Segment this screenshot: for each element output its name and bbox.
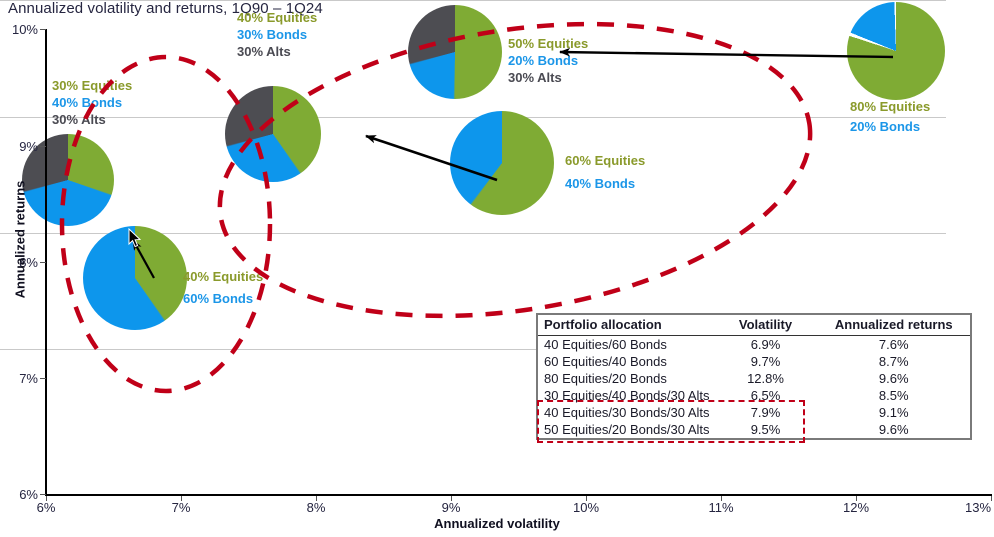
- label-alts: 30% Alts: [508, 69, 588, 86]
- cell-allocation: 30 Equities/40 Bonds/30 Alts: [538, 387, 714, 404]
- x-tick-label-7pct: 7%: [172, 500, 191, 515]
- label-bonds: 40% Bonds: [565, 175, 645, 192]
- cell-allocation: 40 Equities/30 Bonds/30 Alts: [538, 404, 714, 421]
- cell-returns: 9.6%: [816, 370, 971, 387]
- y-tick-label-7pct: 7%: [0, 371, 38, 386]
- cell-returns: 9.1%: [816, 404, 971, 421]
- cell-allocation: 50 Equities/20 Bonds/30 Alts: [538, 421, 714, 438]
- table-row[interactable]: 40 Equities/60 Bonds 6.9% 7.6%: [538, 336, 970, 354]
- y-tick-label-10pct: 10%: [0, 22, 38, 37]
- portfolio-allocation-table: Portfolio allocation Volatility Annualiz…: [536, 313, 972, 440]
- x-tick-label-11pct: 11%: [708, 500, 733, 515]
- cell-returns: 9.6%: [816, 421, 971, 438]
- label-equities: 40% Equities: [183, 268, 263, 285]
- y-tick-9: [40, 146, 46, 147]
- pie-label-40eq-60bd: 40% Equities 60% Bonds: [183, 268, 263, 307]
- x-axis-line: [45, 494, 992, 496]
- label-equities: 60% Equities: [565, 152, 645, 169]
- cell-volatility: 7.9%: [714, 404, 816, 421]
- table-row[interactable]: 50 Equities/20 Bonds/30 Alts 9.5% 9.6%: [538, 421, 970, 438]
- table-header-allocation: Portfolio allocation: [538, 315, 714, 336]
- y-tick-label-6pct: 6%: [0, 487, 38, 502]
- pie-label-40eq-30bd-30alt: 40% Equities 30% Bonds 30% Alts: [237, 9, 317, 60]
- cell-returns: 8.7%: [816, 353, 971, 370]
- pie-label-60eq-40bd: 60% Equities 40% Bonds: [565, 152, 645, 192]
- label-equities: 80% Equities: [850, 98, 930, 115]
- pie-60eq-40bd[interactable]: [450, 111, 554, 215]
- cell-volatility: 9.5%: [714, 421, 816, 438]
- pie-80eq-20bd[interactable]: [847, 2, 945, 100]
- table-row[interactable]: 30 Equities/40 Bonds/30 Alts 6.5% 8.5%: [538, 387, 970, 404]
- table-header-row: Portfolio allocation Volatility Annualiz…: [538, 315, 970, 336]
- x-axis-title: Annualized volatility: [0, 516, 994, 531]
- label-bonds: 40% Bonds: [52, 94, 132, 111]
- y-tick-6: [40, 494, 46, 495]
- table-header-returns: Annualized returns: [816, 315, 971, 336]
- pie-label-30eq-40bd-30alt: 30% Equities 40% Bonds 30% Alts: [52, 77, 132, 128]
- pie-label-80eq-20bd: 80% Equities 20% Bonds: [850, 98, 930, 135]
- cell-volatility: 12.8%: [714, 370, 816, 387]
- label-bonds: 20% Bonds: [508, 52, 588, 69]
- cell-volatility: 6.5%: [714, 387, 816, 404]
- cell-allocation: 40 Equities/60 Bonds: [538, 336, 714, 354]
- cell-returns: 8.5%: [816, 387, 971, 404]
- cell-volatility: 9.7%: [714, 353, 816, 370]
- x-tick-label-12pct: 12%: [843, 500, 869, 515]
- label-alts: 30% Alts: [237, 43, 317, 60]
- label-equities: 40% Equities: [237, 9, 317, 26]
- table-header-volatility: Volatility: [714, 315, 816, 336]
- cell-volatility: 6.9%: [714, 336, 816, 354]
- cell-returns: 7.6%: [816, 336, 971, 354]
- label-equities: 50% Equities: [508, 35, 588, 52]
- mouse-cursor-icon: [128, 228, 142, 248]
- label-bonds: 60% Bonds: [183, 290, 263, 307]
- x-tick-label-8pct: 8%: [307, 500, 326, 515]
- x-tick-13: [991, 496, 992, 501]
- label-alts: 30% Alts: [52, 111, 132, 128]
- table-row[interactable]: 40 Equities/30 Bonds/30 Alts 7.9% 9.1%: [538, 404, 970, 421]
- x-tick-label-9pct: 9%: [442, 500, 461, 515]
- table-row[interactable]: 60 Equities/40 Bonds 9.7% 8.7%: [538, 353, 970, 370]
- y-tick-8: [40, 262, 46, 263]
- y-tick-10: [40, 29, 46, 30]
- pie-50eq-20bd-30alt[interactable]: [408, 5, 502, 99]
- cell-allocation: 80 Equities/20 Bonds: [538, 370, 714, 387]
- gridline-9pct: [0, 117, 946, 118]
- x-tick-label-6pct: 6%: [37, 500, 56, 515]
- label-equities: 30% Equities: [52, 77, 132, 94]
- gridline-10pct: [0, 0, 946, 1]
- y-tick-7: [40, 378, 46, 379]
- label-bonds: 30% Bonds: [237, 26, 317, 43]
- pie-label-50eq-20bd-30alt: 50% Equities 20% Bonds 30% Alts: [508, 35, 588, 86]
- x-tick-label-13pct: 13%: [965, 500, 991, 515]
- table-row[interactable]: 80 Equities/20 Bonds 12.8% 9.6%: [538, 370, 970, 387]
- y-axis-title: Annualized returns: [13, 110, 28, 370]
- cell-allocation: 60 Equities/40 Bonds: [538, 353, 714, 370]
- x-tick-label-10pct: 10%: [573, 500, 599, 515]
- pie-40eq-30bd-30alt[interactable]: [225, 86, 321, 182]
- label-bonds: 20% Bonds: [850, 118, 930, 135]
